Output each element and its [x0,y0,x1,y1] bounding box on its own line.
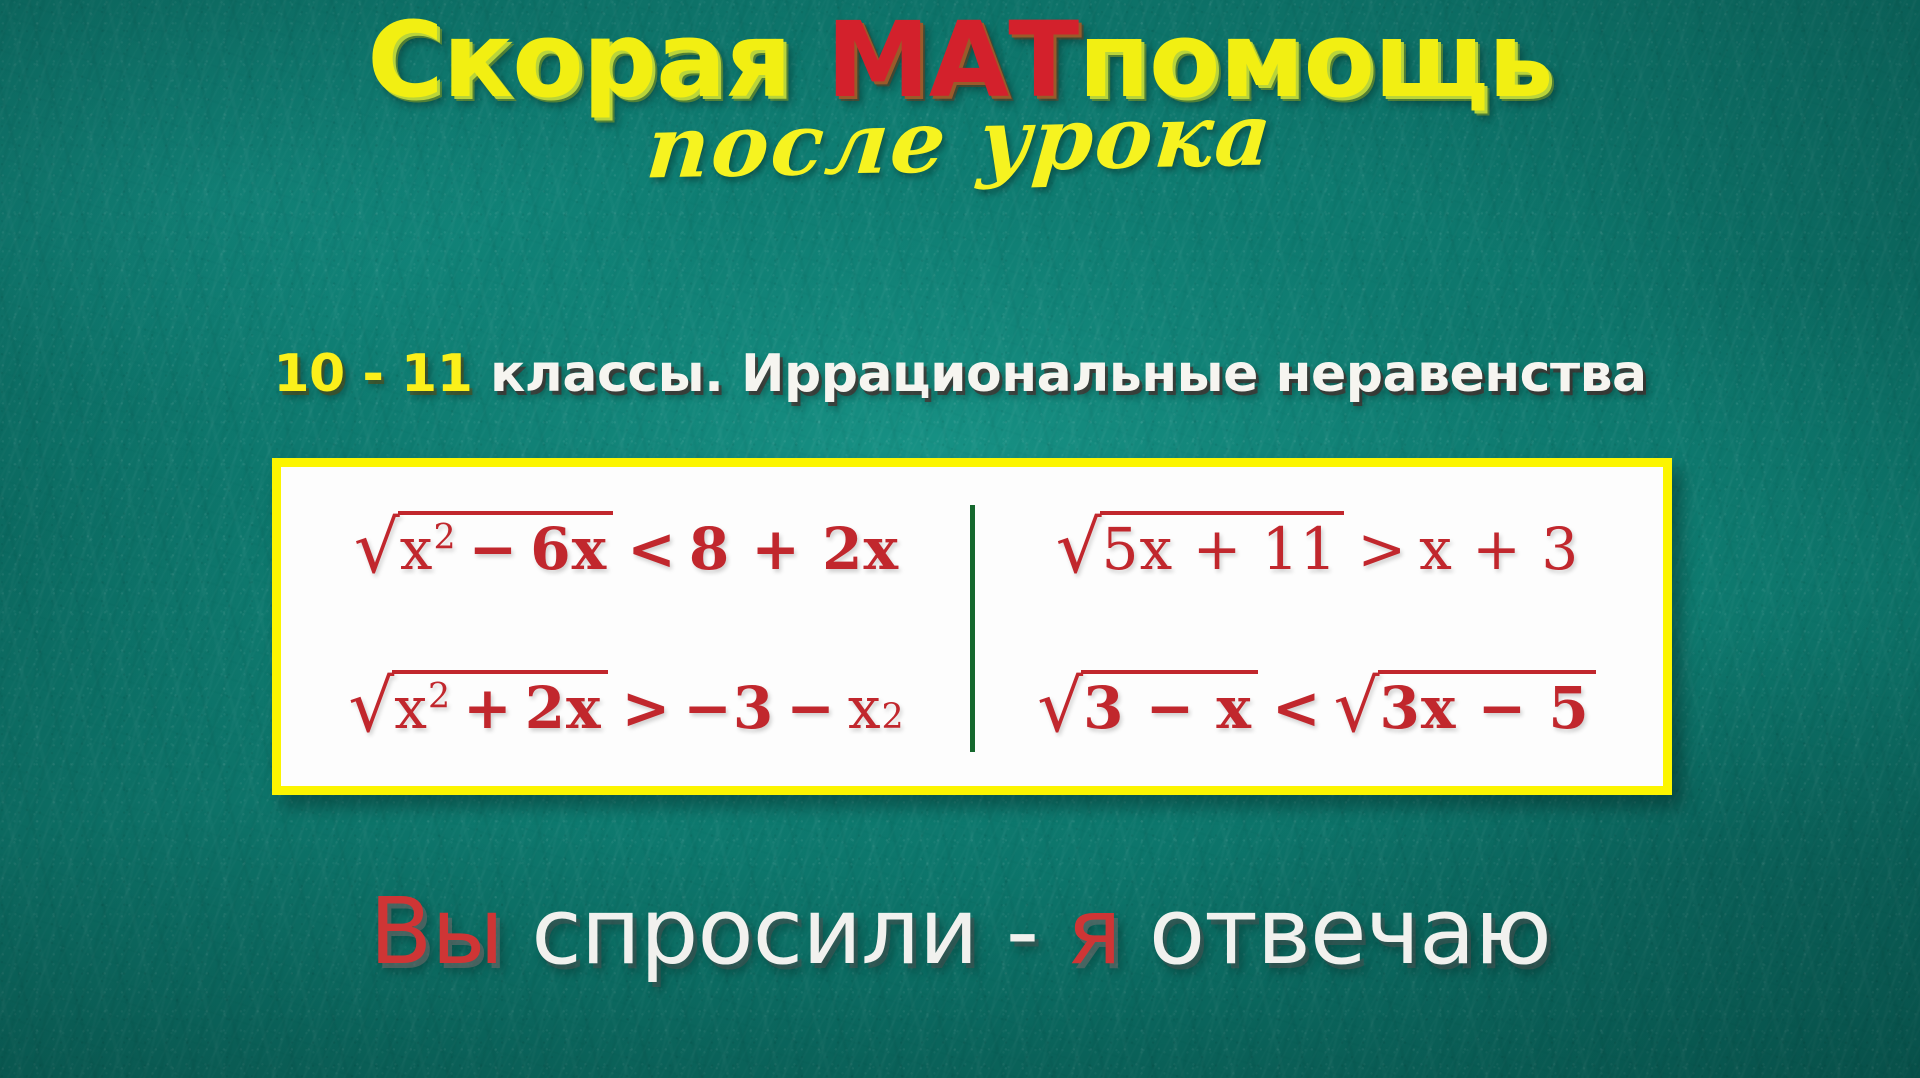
radical-sign: √ [348,673,395,742]
topic-label: классы. Иррациональные неравенства [472,344,1646,404]
radicand-rest: 2x [525,674,602,742]
radicand-operator: + [463,674,513,742]
formula-panel: √ x2−6x < 8 + 2x √ 5x + 11 > x + 3 √ x [272,458,1672,795]
relation-sign: < [1272,674,1322,742]
sqrt-icon-2: √ 3x − 5 [1334,670,1596,739]
subject-line: 10 - 11 классы. Иррациональные неравенст… [0,344,1920,404]
formula-grid: √ x2−6x < 8 + 2x √ 5x + 11 > x + 3 √ x [281,467,1663,786]
sqrt-icon: √ 5x + 11 [1056,511,1344,580]
footer-part1: Вы [369,878,503,985]
slide-canvas: Скорая МАТпомощь после урока 10 - 11 кла… [0,0,1920,1078]
formula-top-left: √ x2−6x < 8 + 2x [354,511,899,583]
sqrt-icon: √ x2−6x [354,511,613,580]
radicand-base: x [400,515,434,583]
radicand: x2−6x [398,511,613,580]
sqrt-icon: √ x2+2x [348,670,607,739]
footer-part2: спросили - [503,878,1066,985]
footer-tagline: Вы спросили - я отвечаю [0,878,1920,985]
radicand-2: 3x − 5 [1378,670,1596,739]
footer-part3: я [1066,878,1120,985]
relation-sign: < [627,515,677,583]
panel-divider [970,505,975,752]
radicand-exponent: 2 [434,517,457,557]
radicand: 5x + 11 [1100,511,1344,580]
footer-part4: отвечаю [1121,878,1551,985]
radicand-exponent: 2 [428,677,451,717]
sqrt-icon: √ 3 − x [1037,670,1258,739]
radical-sign: √ [354,514,401,583]
radicand: 3 − x [1081,670,1258,739]
rhs-base: x [848,674,882,742]
radicand-base: x [394,674,428,742]
radical-sign: √ [1056,514,1103,583]
radical-sign: √ [1037,673,1084,742]
formula-top-right: √ 5x + 11 > x + 3 [1056,511,1579,583]
right-hand-side: 8 + 2x [689,515,899,583]
header: Скорая МАТпомощь после урока [0,6,1920,185]
radicand: x2+2x [392,670,607,739]
rhs-first-term: −3 [683,674,774,742]
radicand-rest: 6x [530,515,607,583]
relation-sign: > [1358,515,1408,583]
rhs-operator: − [786,674,836,742]
radical-sign-2: √ [1334,673,1381,742]
right-hand-side: x + 3 [1419,515,1579,583]
formula-bottom-left: √ x2+2x > −3 − x2 [348,670,904,742]
grade-label: 10 - 11 [273,344,472,404]
radicand-operator: − [469,515,519,583]
relation-sign: > [622,674,672,742]
formula-bottom-right: √ 3 − x < √ 3x − 5 [1037,670,1598,742]
